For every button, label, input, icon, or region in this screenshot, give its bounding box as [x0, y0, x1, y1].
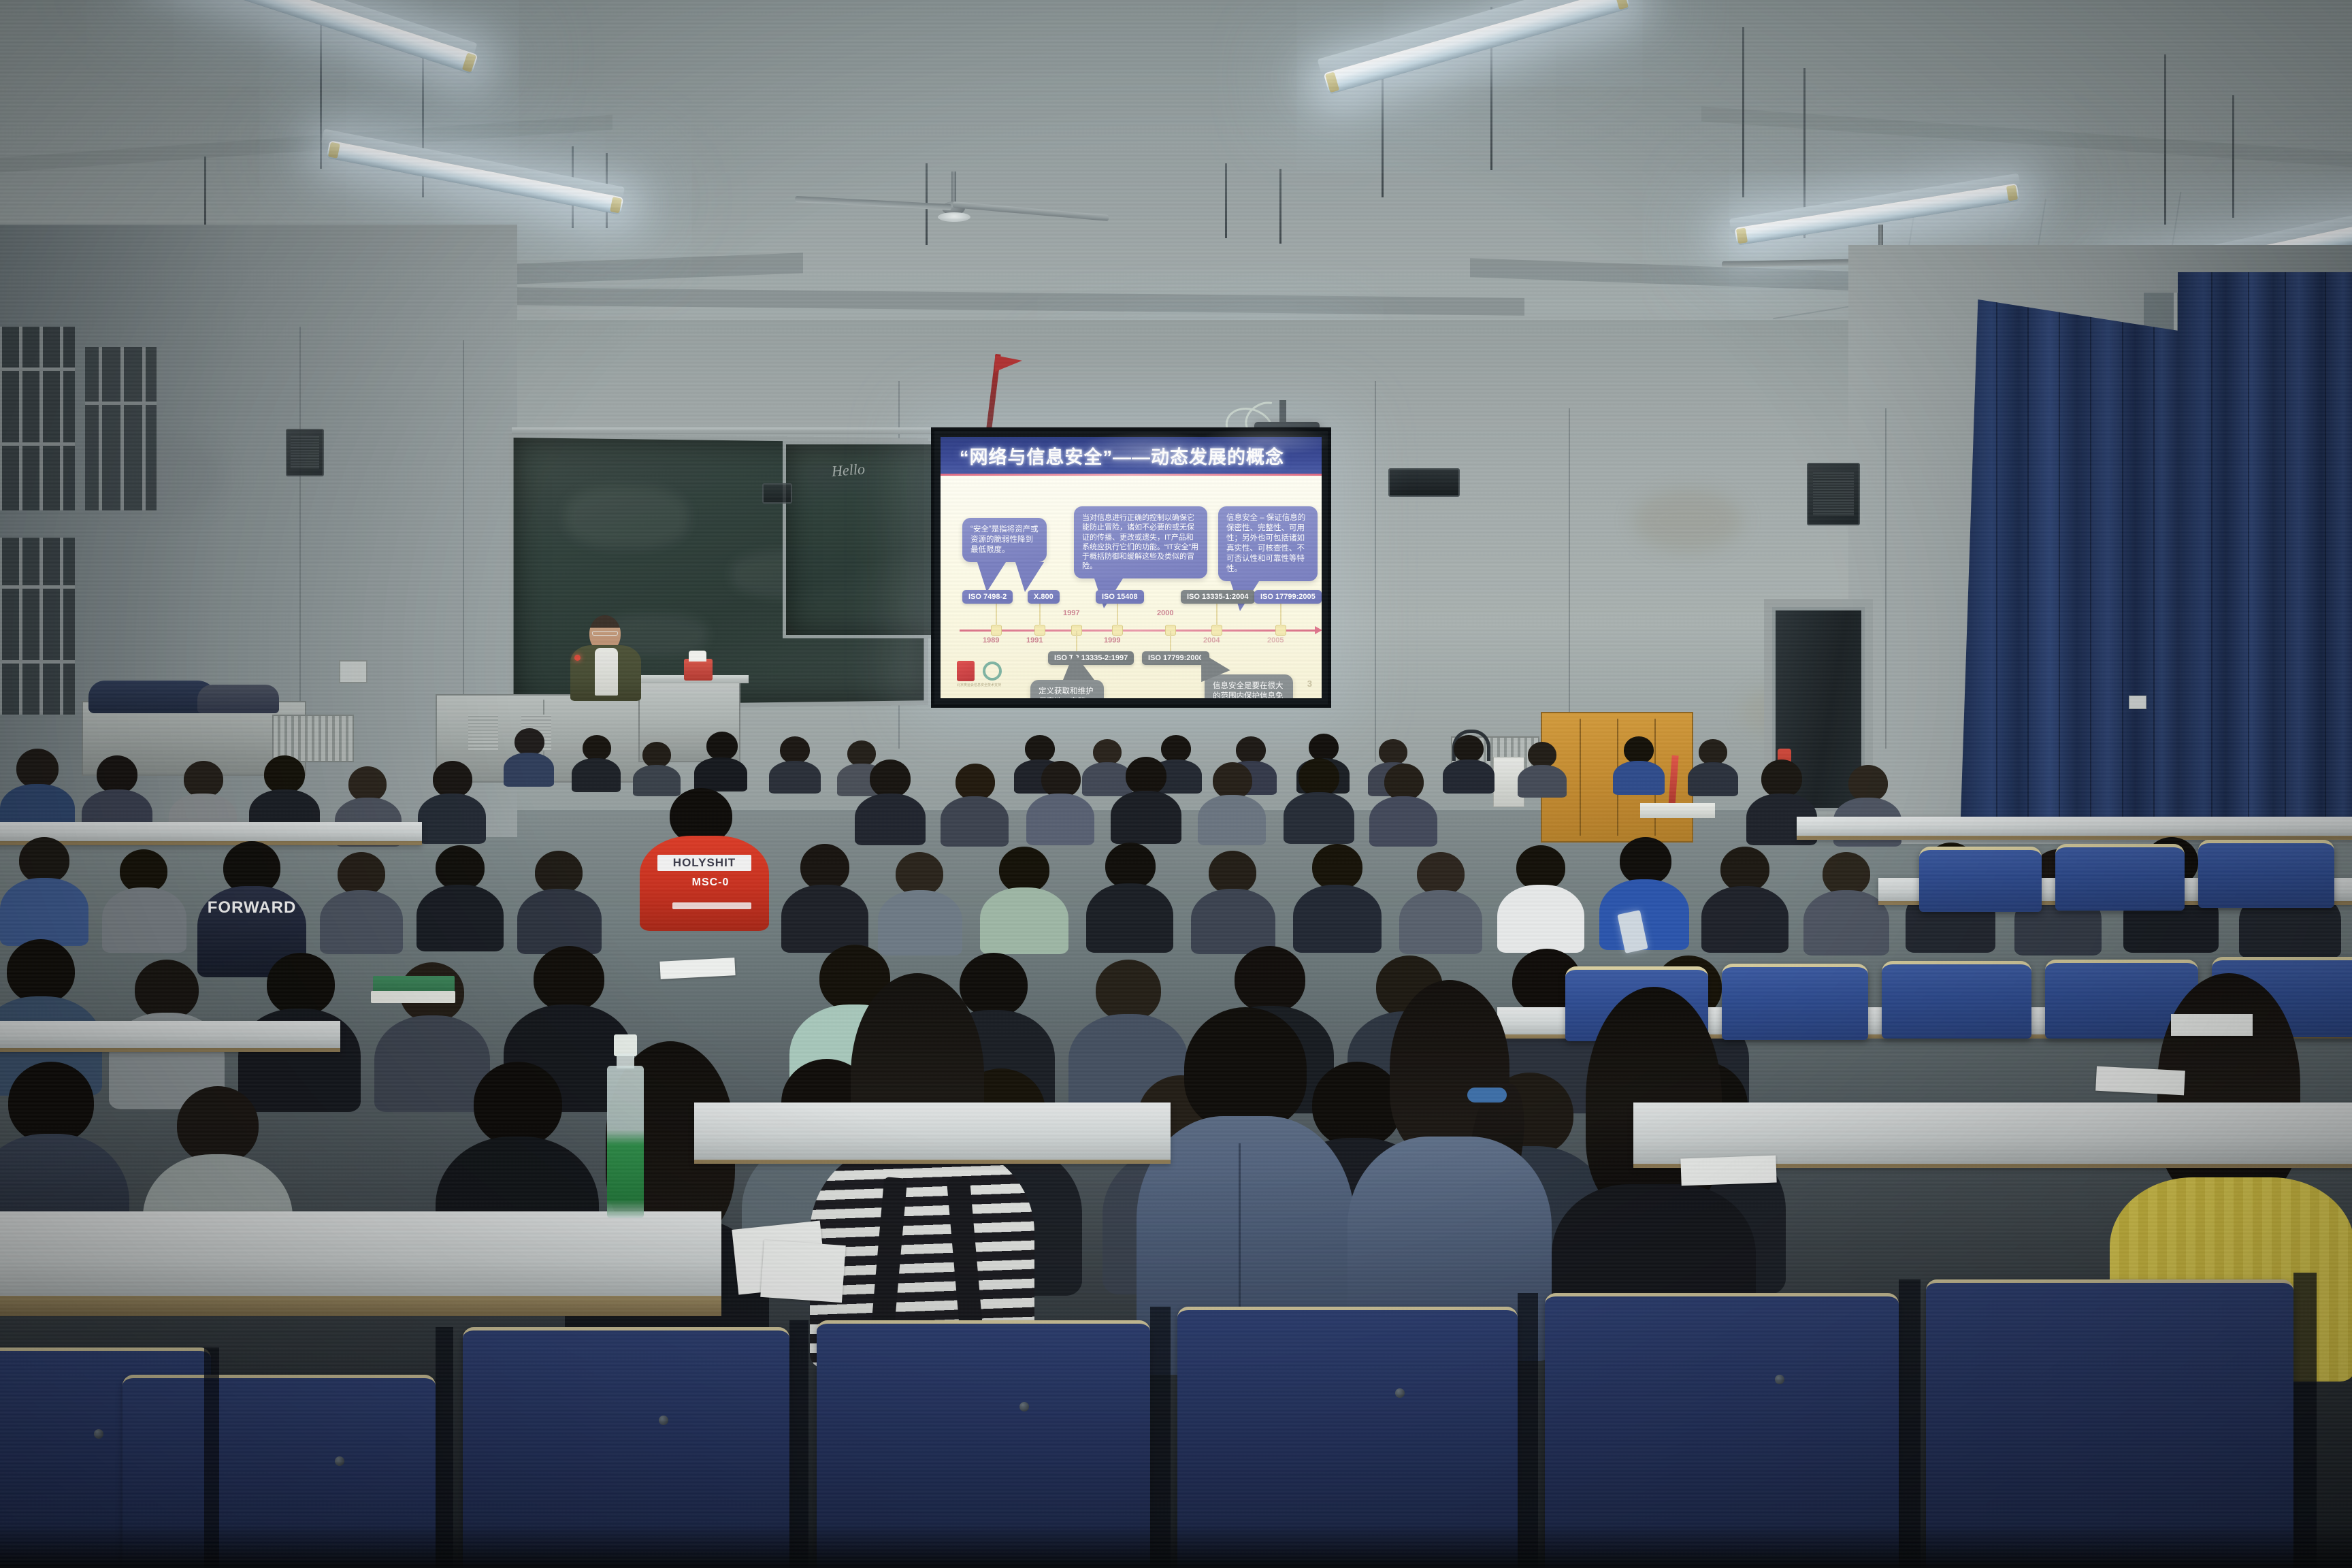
callout-info-security-cia: 信息安全 – 保证信息的保密性、完整性、可用性；另外也可包括诸如真实性、可核查性…: [1218, 506, 1318, 581]
wall-seam: [299, 327, 301, 749]
desk: [0, 1211, 721, 1300]
short-hair: [1184, 1007, 1307, 1130]
seat-hinge: [94, 1429, 103, 1439]
lecturer: [565, 612, 653, 701]
slide-body: “安全”是指将资产或资源的脆弱性降到最低限度。 当对信息进行正确的控制以确保它能…: [941, 476, 1322, 698]
bottle-body: [607, 1066, 644, 1218]
chip-label: ISO 15408: [1102, 593, 1138, 601]
callout-tail: [977, 562, 1006, 592]
light-pendant-rod: [1225, 163, 1227, 238]
callout-text: 定义获取和维护保密性、完整性、可用性、可核查性、真实性和可靠性。: [1039, 687, 1094, 698]
timeline-axis: [960, 630, 1315, 632]
wall-seam: [1375, 381, 1376, 762]
slide-title: “网络与信息安全”——动态发展的概念: [960, 442, 1284, 469]
callout-tail: [1063, 653, 1094, 680]
desk: [0, 1021, 340, 1052]
timeline-stem: [996, 602, 997, 625]
callout-security-definition: “安全”是指将资产或资源的脆弱性降到最低限度。: [962, 518, 1047, 562]
callout-tail: [1015, 562, 1044, 592]
seat-hinge: [659, 1416, 668, 1425]
speaker-grill-icon: [291, 436, 319, 469]
book[interactable]: [371, 991, 455, 1003]
timeline-chip-iso-13335-1-2004: ISO 13335-1:2004: [1181, 590, 1255, 604]
speaker-grill-icon: [1813, 472, 1853, 515]
timeline-chip-iso-17799-2005: ISO 17799:2005: [1254, 590, 1322, 604]
timeline-stem: [1117, 602, 1118, 625]
wall-speaker: [286, 429, 324, 476]
timeline-arrow-icon: [1315, 626, 1322, 634]
barred-window: [0, 538, 75, 715]
light-pendant-rod: [320, 5, 322, 169]
tissue-box: [684, 659, 713, 681]
slide-footer-logos: 北京奥运会信息安全技术支持: [957, 661, 1002, 687]
projector-mount: [1279, 400, 1286, 423]
wall-stain: [1633, 490, 1742, 551]
wall-seam: [463, 340, 464, 749]
lecturer-shirt: [595, 648, 618, 696]
jersey-stripe: [672, 902, 751, 909]
wall-seam: [1885, 408, 1886, 749]
projection-screen: “网络与信息安全”——动态发展的概念 “安全”是指将资产或资源的脆弱性降到最低限…: [931, 427, 1331, 708]
timeline-year-1997: 1997: [1063, 609, 1079, 617]
seat[interactable]: [1882, 961, 2031, 1039]
tube-cap-icon: [328, 142, 340, 159]
paper-sheet[interactable]: [2095, 1066, 2185, 1096]
timeline-stem: [1170, 631, 1171, 654]
timeline-stem: [1076, 631, 1077, 654]
barred-window: [0, 327, 75, 510]
timeline-year-1991: 1991: [1026, 636, 1043, 644]
slide-page-number: 3: [1307, 679, 1312, 689]
timeline-chip-x800: X.800: [1028, 590, 1060, 604]
paper-sheet[interactable]: [760, 1240, 846, 1303]
student-red-jacket: HOLYSHIT MSC-0: [640, 788, 769, 931]
chip-label: ISO 13335-1:2004: [1187, 593, 1249, 601]
slide-header: “网络与信息安全”——动态发展的概念: [941, 437, 1322, 474]
callout-iso-tr-13335-2: 定义获取和维护保密性、完整性、可用性、可核查性、真实性和可靠性。: [1030, 680, 1104, 698]
timeline-year-1989: 1989: [983, 636, 999, 644]
seat[interactable]: [2198, 840, 2334, 908]
timeline-node: [1275, 625, 1286, 636]
desk-edge: [0, 1296, 721, 1316]
callout-text: 信息安全是要在很大的范围内保护信息免受各种威胁，从而确保业务的连续性、减少业务损…: [1213, 682, 1284, 698]
callout-tail: [1191, 645, 1230, 682]
logo-caption: 北京奥运会信息安全技术支持: [957, 683, 1002, 687]
timeline-node: [1211, 625, 1222, 636]
tube-cap-icon: [2006, 185, 2018, 201]
timeline-year-2000: 2000: [1157, 609, 1173, 617]
sponsor-logo-icon: [983, 661, 1002, 681]
timeline-stem: [1039, 602, 1041, 625]
paper-sheet[interactable]: [2171, 1014, 2253, 1036]
chip-label: X.800: [1034, 593, 1053, 601]
cabinet-vent: [468, 715, 498, 751]
timeline-year-2005: 2005: [1267, 636, 1284, 644]
barred-window: [85, 347, 157, 510]
chip-label: ISO 7498-2: [968, 593, 1007, 601]
lecturer-glasses-icon: [592, 631, 618, 636]
seat-hinge: [1395, 1388, 1405, 1398]
seat[interactable]: [2055, 844, 2185, 911]
seat-gap: [2293, 1273, 2317, 1568]
seat-hinge: [1775, 1375, 1784, 1384]
seat[interactable]: [1919, 847, 2042, 912]
timeline-node: [1112, 625, 1123, 636]
seat-hinge: [335, 1456, 344, 1466]
timeline-node: [991, 625, 1002, 636]
seat-hinge: [1019, 1402, 1029, 1411]
wall-box: [762, 483, 792, 504]
light-pendant-rod: [1742, 27, 1744, 197]
timeline-year-1999: 1999: [1104, 636, 1120, 644]
hair-tie: [1467, 1088, 1507, 1102]
callout-iso-17799-2000: 信息安全是要在很大的范围内保护信息免受各种威胁，从而确保业务的连续性、减少业务损…: [1205, 674, 1293, 698]
timeline-node: [1034, 625, 1045, 636]
projected-slide: “网络与信息安全”——动态发展的概念 “安全”是指将资产或资源的脆弱性降到最低限…: [941, 437, 1322, 698]
callout-text: “安全”是指将资产或资源的脆弱性降到最低限度。: [970, 525, 1039, 554]
electrical-box: [339, 660, 367, 683]
wall-seam: [1569, 408, 1570, 762]
lecturer-mic-indicator: [574, 655, 581, 661]
light-pendant-rod: [1279, 169, 1281, 244]
blue-curtain: [1960, 299, 2185, 837]
tube-cap-icon: [1736, 227, 1748, 244]
hoodie-text-forward: FORWARD: [197, 898, 306, 917]
wall-speaker: [1807, 463, 1860, 525]
timeline-stem: [1216, 602, 1218, 625]
timeline-chip-iso-15408: ISO 15408: [1096, 590, 1144, 604]
timeline-stem: [1280, 602, 1281, 625]
chip-label: ISO 17799:2005: [1260, 593, 1316, 601]
jersey-text-holyshit: HOLYSHIT: [657, 856, 751, 870]
clothing-pile: [197, 685, 279, 713]
paper-sheet[interactable]: [659, 958, 735, 979]
wall-outlet[interactable]: [2129, 696, 2146, 709]
water-bottle[interactable]: [606, 1034, 645, 1218]
jersey-text-msc: MSC-0: [676, 877, 745, 889]
floor-shadow: [0, 1524, 2352, 1568]
lecture-hall-scene: Hello “网络与信息安全: [0, 0, 2352, 1568]
timeline-chip-iso-7498-2: ISO 7498-2: [962, 590, 1013, 604]
white-shelf: [1640, 803, 1715, 818]
ac-control-panel[interactable]: [1388, 468, 1460, 497]
light-pendant-rod: [2232, 95, 2234, 218]
callout-text: 信息安全 – 保证信息的保密性、完整性、可用性；另外也可包括诸如真实性、可核查性…: [1226, 514, 1305, 573]
callout-text: 当对信息进行正确的控制以确保它能防止冒险，诸如不必要的或无保证的传播、更改或遗失…: [1082, 514, 1198, 570]
paper-sheet[interactable]: [1680, 1156, 1776, 1186]
callout-it-security: 当对信息进行正确的控制以确保它能防止冒险，诸如不必要的或无保证的传播、更改或遗失…: [1074, 506, 1207, 578]
tube-cap-icon: [610, 197, 622, 213]
desk: [1797, 817, 2352, 840]
tissue: [689, 651, 706, 661]
tube-cap-icon: [1614, 0, 1629, 10]
olympic-logo-icon: [957, 661, 975, 681]
desk: [694, 1102, 1171, 1164]
blue-curtain: [2178, 272, 2352, 830]
chalk-note: Hello: [831, 460, 866, 480]
student-striped-shirt: [810, 973, 1034, 1368]
light-pendant-rod: [2164, 54, 2166, 225]
timeline-year-2004: 2004: [1203, 636, 1220, 644]
